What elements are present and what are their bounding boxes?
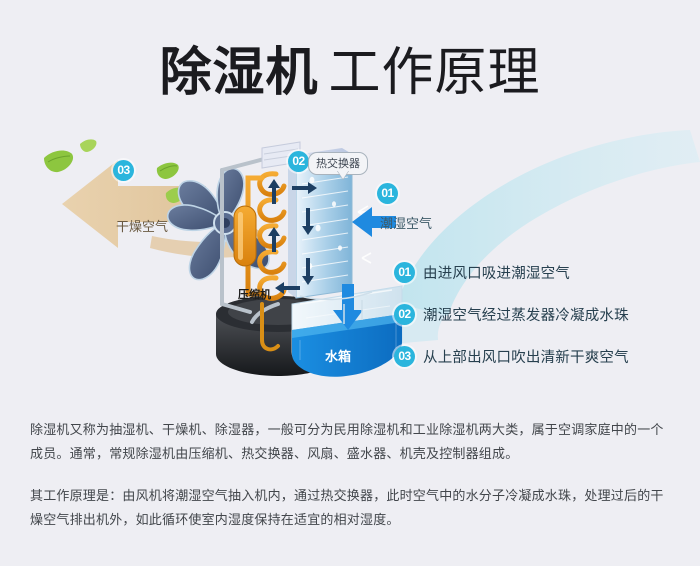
legend-item-02: 02 潮湿空气经过蒸发器冷凝成水珠 — [394, 297, 684, 331]
page-title-bold: 除湿机 — [159, 44, 318, 102]
legend-badge-02: 02 — [394, 304, 415, 325]
diagram-label-dry-air: 干燥空气 — [116, 216, 168, 235]
legend-text-01: 由进风口吸进潮湿空气 — [423, 262, 570, 283]
legend-text-02: 潮湿空气经过蒸发器冷凝成水珠 — [423, 304, 629, 325]
legend-text-03: 从上部出风口吹出清新干爽空气 — [423, 346, 629, 367]
diagram-badge-01: 01 — [377, 183, 398, 204]
legend-badge-03: 03 — [394, 346, 415, 367]
diagram-label-water-tank: 水箱 — [325, 346, 351, 365]
callout-tail-icon — [337, 170, 349, 179]
body-paragraph-1: 除湿机又称为抽湿机、干燥机、除湿器，一般可分为民用除湿机和工业除湿机两大类，属于… — [30, 418, 675, 466]
legend-list: 01 由进风口吸进潮湿空气 02 潮湿空气经过蒸发器冷凝成水珠 03 从上部出风… — [394, 255, 684, 381]
diagram-label-compressor: 压缩机 — [238, 286, 271, 302]
compressor-cylinder-artwork — [234, 206, 256, 266]
legend-badge-01: 01 — [394, 262, 415, 283]
diagram-badge-03: 03 — [113, 160, 134, 181]
legend-item-01: 01 由进风口吸进潮湿空气 — [394, 255, 684, 289]
diagram-label-humid-air: 潮湿空气 — [380, 213, 432, 232]
page-title-light: 工作原理 — [329, 44, 541, 102]
body-paragraph-2: 其工作原理是：由风机将潮湿空气抽入机内，通过热交换器，此时空气中的水分子冷凝成水… — [30, 484, 675, 532]
diagram-badge-02: 02 — [288, 151, 309, 172]
legend-item-03: 03 从上部出风口吹出清新干爽空气 — [394, 339, 684, 373]
page-title: 除湿机工作原理 — [0, 30, 700, 105]
body-copy: 除湿机又称为抽湿机、干燥机、除湿器，一般可分为民用除湿机和工业除湿机两大类，属于… — [30, 418, 675, 532]
